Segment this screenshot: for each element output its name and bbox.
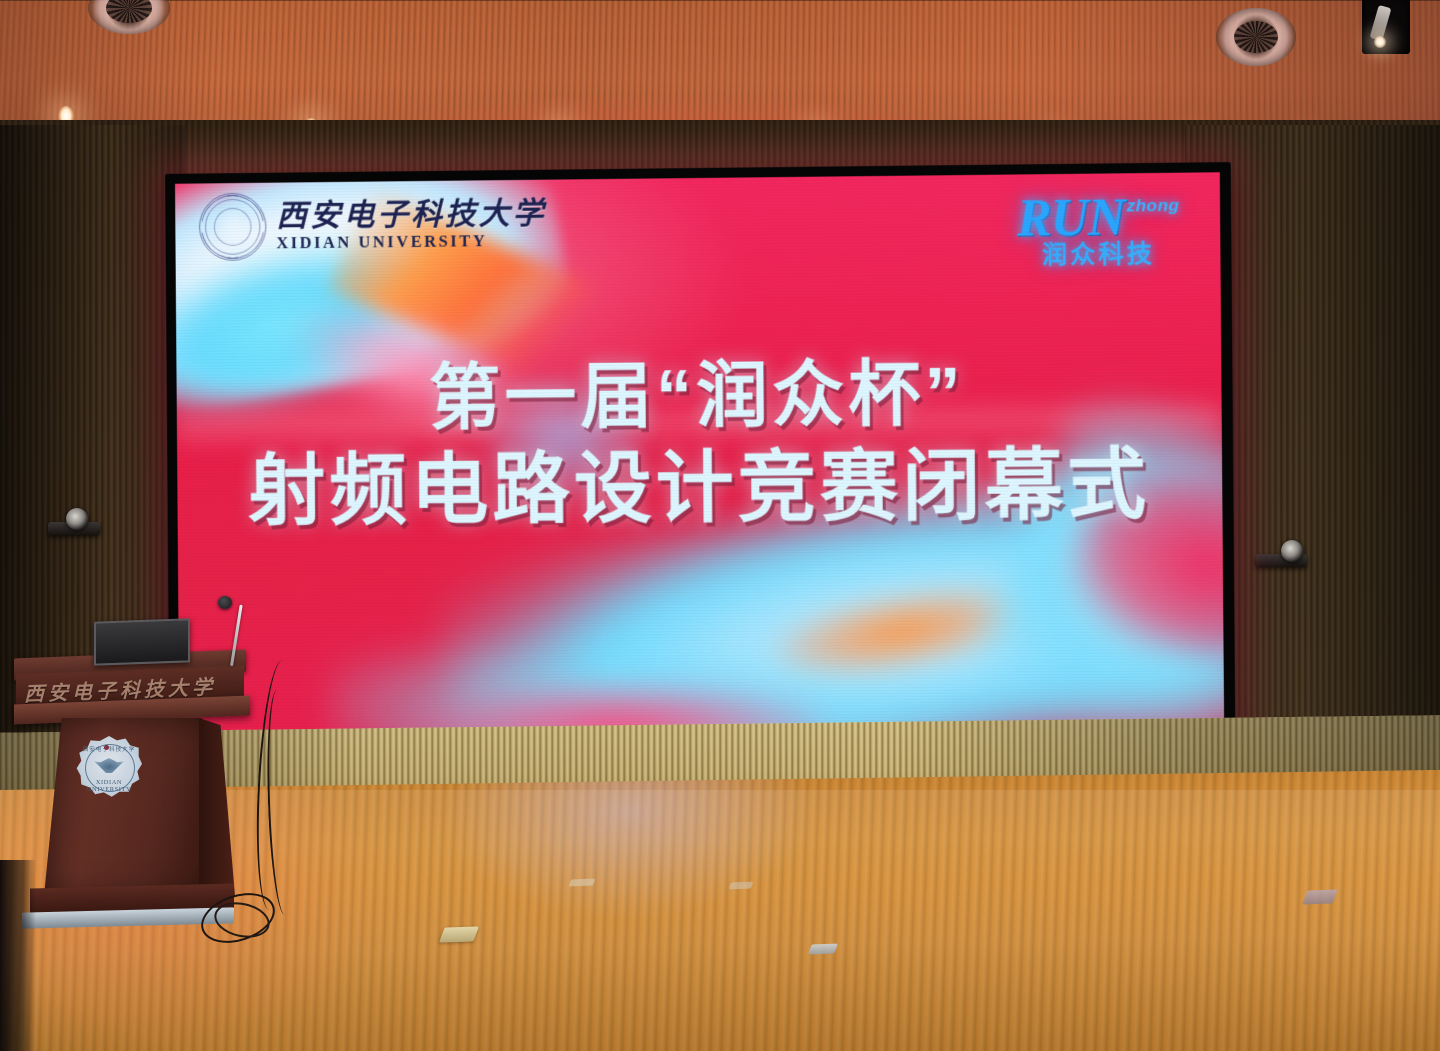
spotlight-head-right	[1374, 36, 1386, 48]
led-screen-bezel: 西安电子科技大学 XIDIAN UNIVERSITY RUN zhong 润众科…	[165, 162, 1235, 748]
floor-scuff-a	[569, 879, 596, 887]
podium-university-emblem: 西安电子科技大学 XIDIAN UNIVERSITY	[76, 736, 142, 798]
floor-marker-a	[808, 944, 838, 955]
banner-title: 第一届“润众杯” 射频电路设计竞赛闭幕式	[176, 351, 1222, 535]
microphone-stem	[230, 605, 243, 667]
floor-outlet-plate	[439, 926, 479, 942]
floor-scuff-b	[729, 882, 754, 890]
speaker-podium: 西安电子科技大学 西安电子科技大学 XIDIAN UNIVERSITY	[14, 618, 264, 938]
laptop-screen	[94, 618, 190, 665]
banner-title-line1: 第一届“润众杯”	[176, 351, 1221, 441]
ceiling-vent-right	[1216, 8, 1296, 66]
university-name-en: XIDIAN UNIVERSITY	[276, 233, 546, 252]
gooseneck-microphone	[204, 594, 250, 666]
emblem-text-en: XIDIAN UNIVERSITY	[76, 779, 142, 793]
university-seal-icon	[199, 193, 267, 261]
wall-camera-left	[48, 508, 106, 538]
camera-lens	[1281, 540, 1303, 562]
university-name-block: 西安电子科技大学 XIDIAN UNIVERSITY	[276, 198, 547, 252]
sponsor-superscript: zhong	[1126, 196, 1179, 217]
microphone-capsule	[218, 596, 232, 609]
foreground-dark-edge	[0, 860, 36, 1051]
university-logo: 西安电子科技大学 XIDIAN UNIVERSITY	[199, 190, 547, 261]
wall-camera-right	[1255, 540, 1313, 570]
sponsor-wordmark-row: RUN zhong	[1017, 195, 1180, 244]
banner-title-line2: 射频电路设计竞赛闭幕式	[177, 440, 1222, 535]
podium-body-side	[199, 718, 235, 896]
presenter-laptop[interactable]	[94, 620, 190, 664]
sponsor-logo: RUN zhong 润众科技	[1017, 195, 1180, 272]
seal-orbit-ring-b	[189, 182, 277, 271]
floor-marker-b	[1302, 889, 1338, 904]
emblem-text-cn: 西安电子科技大学	[76, 745, 142, 753]
university-name-cn: 西安电子科技大学	[276, 198, 546, 232]
camera-lens	[66, 508, 88, 530]
led-screen-display[interactable]: 西安电子科技大学 XIDIAN UNIVERSITY RUN zhong 润众科…	[175, 172, 1224, 737]
auditorium-scene: 西安电子科技大学 XIDIAN UNIVERSITY RUN zhong 润众科…	[0, 0, 1440, 1051]
sponsor-wordmark: RUN	[1017, 195, 1125, 243]
